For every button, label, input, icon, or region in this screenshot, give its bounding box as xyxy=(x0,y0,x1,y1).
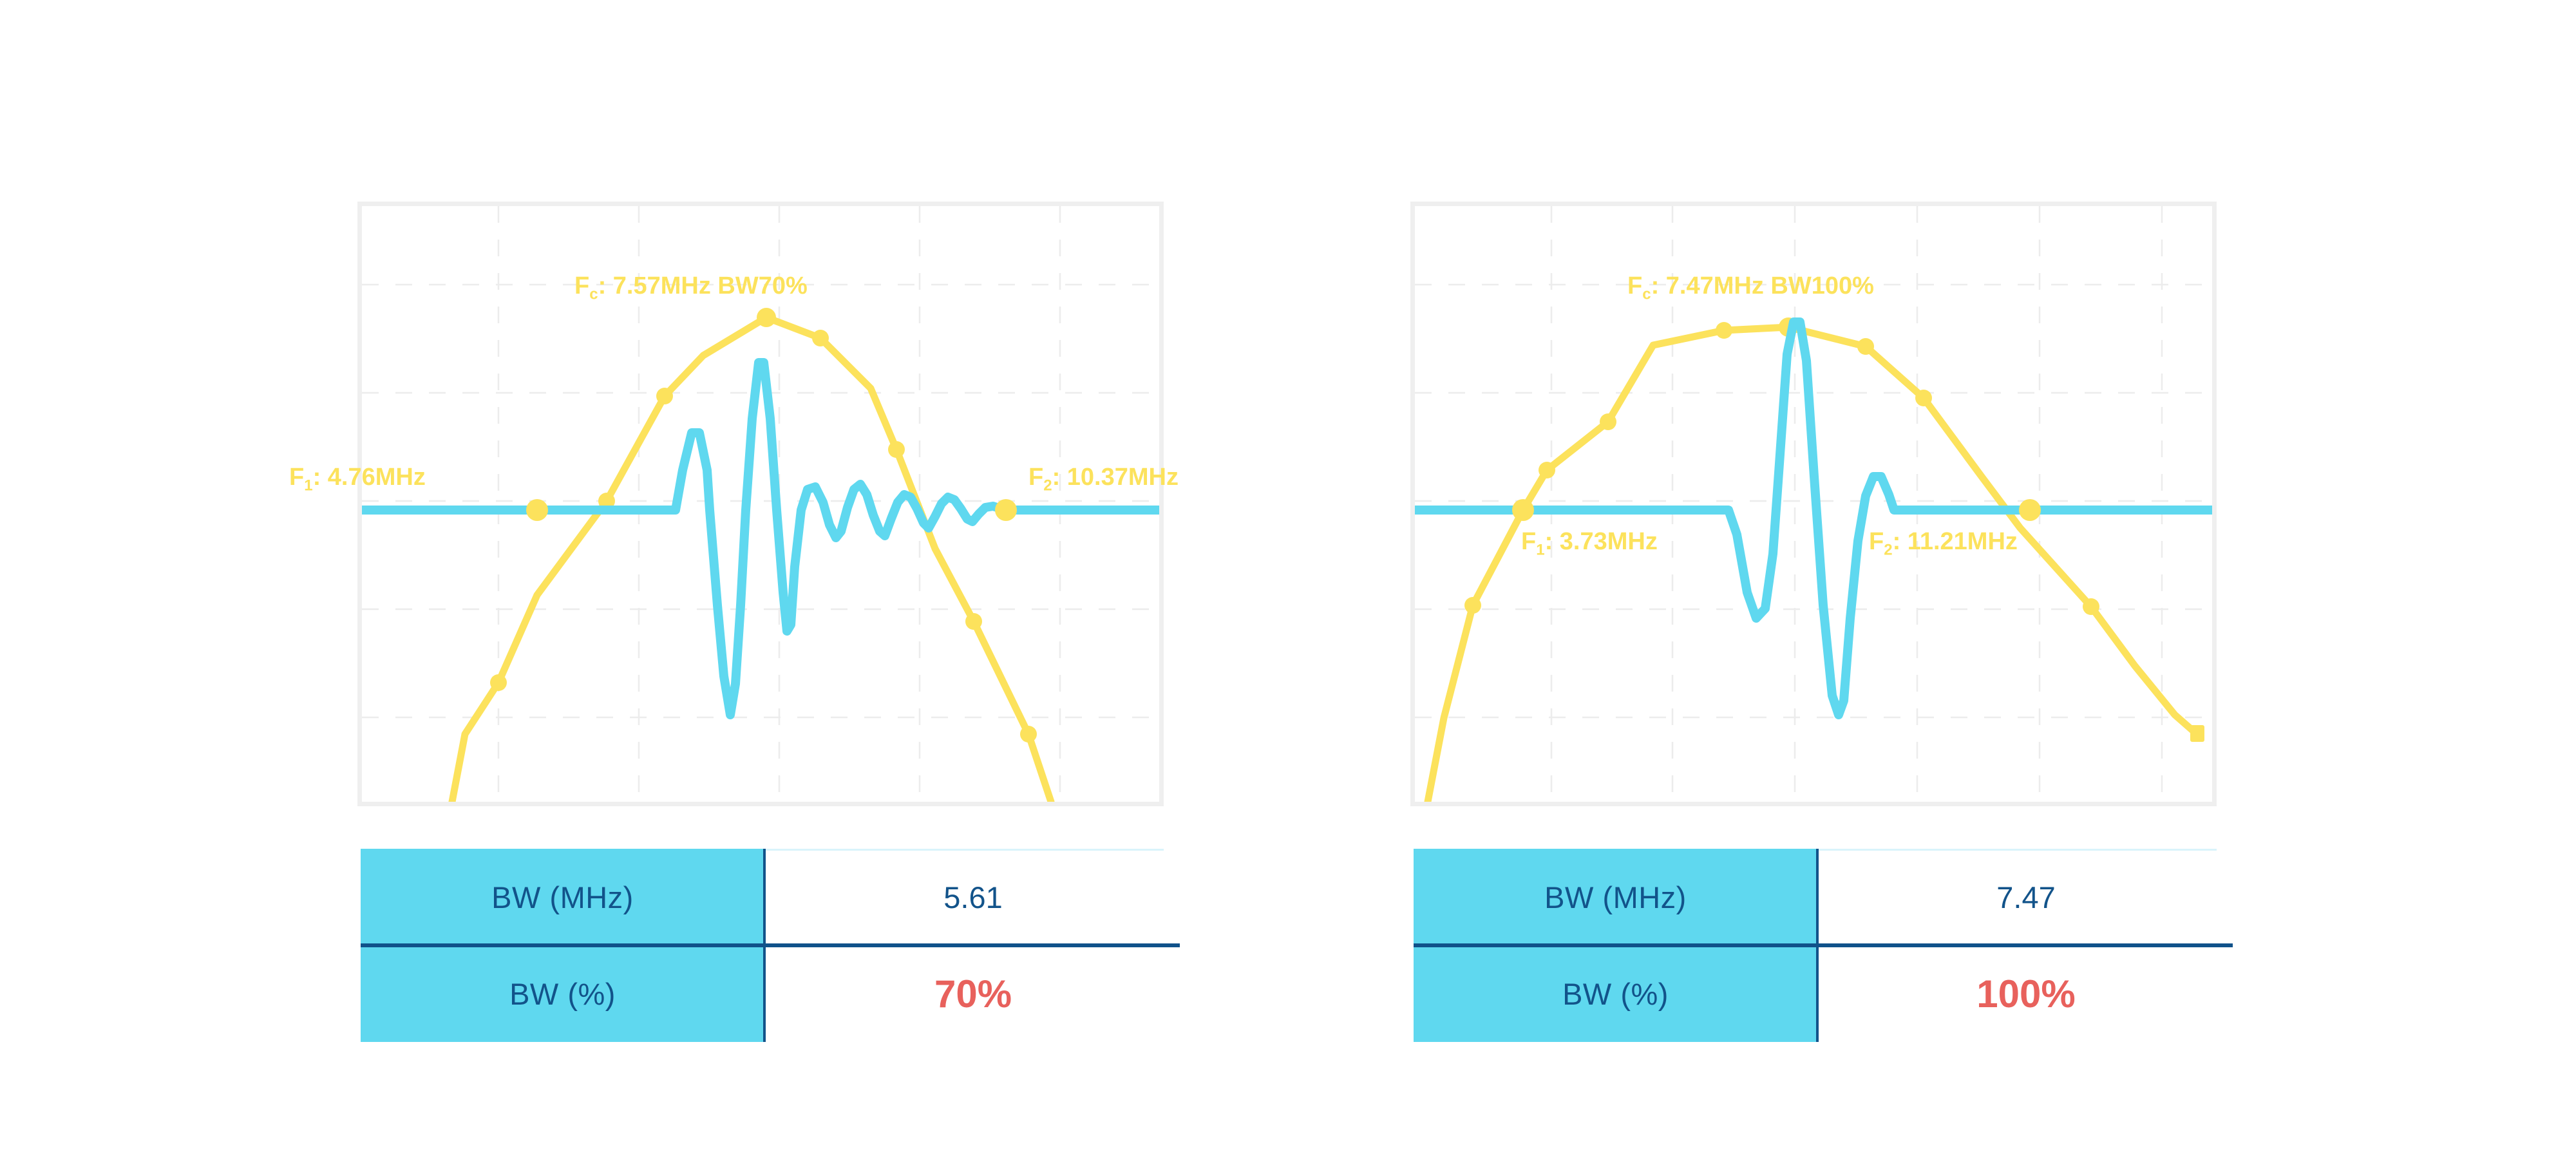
table-value-bw-mhz-right: 7.47 xyxy=(1817,849,2235,945)
table-header-label: BW (%) xyxy=(509,976,616,1012)
table-value-bw-pct-right: 100% xyxy=(1817,945,2235,1042)
table-header-bw-pct-right: BW (%) xyxy=(1414,945,1817,1042)
table-header-bw-mhz-right: BW (MHz) xyxy=(1414,849,1817,945)
annotation-fc-right: Fc: 7.47MHz BW100% xyxy=(1627,272,1874,304)
panel-left: Fc: 7.57MHz BW70% F1: 4.76MHz F2: 10.37M… xyxy=(357,202,1179,1052)
f2-subscript: 2 xyxy=(1884,542,1892,559)
table-top-hairline-right xyxy=(1817,849,2217,851)
table-header-label: BW (%) xyxy=(1562,976,1669,1012)
annotation-fc-text-left: : 7.57MHz BW70% xyxy=(598,272,808,299)
fc-symbol: F xyxy=(574,272,589,299)
annotation-f2-text-right: : 11.21MHz xyxy=(1893,528,2018,555)
table-top-hairline-left xyxy=(764,849,1164,851)
annotation-fc-left: Fc: 7.57MHz BW70% xyxy=(574,272,808,304)
f1-symbol: F xyxy=(289,464,304,491)
annotation-f1-left: F1: 4.76MHz xyxy=(289,464,426,495)
table-value-text: 100% xyxy=(1976,972,2075,1016)
f2-symbol: F xyxy=(1028,464,1043,491)
table-row: BW (%) 70% xyxy=(361,945,1182,1042)
annotation-fc-text-right: : 7.47MHz BW100% xyxy=(1651,272,1874,299)
f2-subscript: 2 xyxy=(1043,477,1052,495)
table-row-divider-left xyxy=(361,943,1180,947)
annotation-f2-right: F2: 11.21MHz xyxy=(1869,528,2018,560)
table-header-bw-mhz-left: BW (MHz) xyxy=(361,849,764,945)
fc-symbol: F xyxy=(1627,272,1642,299)
annotation-f2-left: F2: 10.37MHz xyxy=(1028,464,1179,495)
table-value-text: 7.47 xyxy=(1996,880,2055,915)
f1-subscript: 1 xyxy=(304,477,312,495)
table-row-divider-right xyxy=(1414,943,2233,947)
table-header-label: BW (MHz) xyxy=(1544,880,1687,915)
f1-marker-right xyxy=(1512,499,1534,521)
panel-right: Fc: 7.47MHz BW100% F1: 3.73MHz F2: 11.21… xyxy=(1410,202,2231,1052)
f2-marker-right xyxy=(2019,499,2041,521)
table-column-divider-right xyxy=(1816,849,1819,1042)
pulse-waveform-right xyxy=(1415,322,2212,715)
fc-subscript: c xyxy=(1642,286,1651,303)
annotation-f1-text-right: : 3.73MHz xyxy=(1545,528,1658,555)
table-row: BW (MHz) 5.61 xyxy=(361,849,1182,945)
table-row: BW (%) 100% xyxy=(1414,945,2235,1042)
table-value-text: 5.61 xyxy=(943,880,1002,915)
f2-marker-left xyxy=(995,499,1017,521)
table-header-label: BW (MHz) xyxy=(491,880,634,915)
fc-subscript: c xyxy=(589,286,598,303)
pulse-waveform-left xyxy=(362,363,1159,715)
f1-symbol: F xyxy=(1521,528,1536,555)
figure-root: Fc: 7.57MHz BW70% F1: 4.76MHz F2: 10.37M… xyxy=(0,0,2576,1154)
f2-symbol: F xyxy=(1869,528,1884,555)
f1-marker-left xyxy=(526,499,548,521)
plot-box-left: Fc: 7.57MHz BW70% F1: 4.76MHz F2: 10.37M… xyxy=(357,202,1164,806)
table-column-divider-left xyxy=(763,849,766,1042)
measurement-table-left: BW (MHz) 5.61 BW (%) 70% xyxy=(361,849,1182,1042)
annotation-f2-text-left: : 10.37MHz xyxy=(1052,464,1179,491)
table-row: BW (MHz) 7.47 xyxy=(1414,849,2235,945)
annotation-f1-text-left: : 4.76MHz xyxy=(313,464,426,491)
f1-subscript: 1 xyxy=(1536,542,1544,559)
annotation-f1-right: F1: 3.73MHz xyxy=(1521,528,1658,560)
table-value-bw-pct-left: 70% xyxy=(764,945,1182,1042)
plot-box-right: Fc: 7.47MHz BW100% F1: 3.73MHz F2: 11.21… xyxy=(1410,202,2217,806)
table-value-text: 70% xyxy=(934,972,1012,1016)
table-value-bw-mhz-left: 5.61 xyxy=(764,849,1182,945)
measurement-table-right: BW (MHz) 7.47 BW (%) 100% xyxy=(1414,849,2235,1042)
table-header-bw-pct-left: BW (%) xyxy=(361,945,764,1042)
